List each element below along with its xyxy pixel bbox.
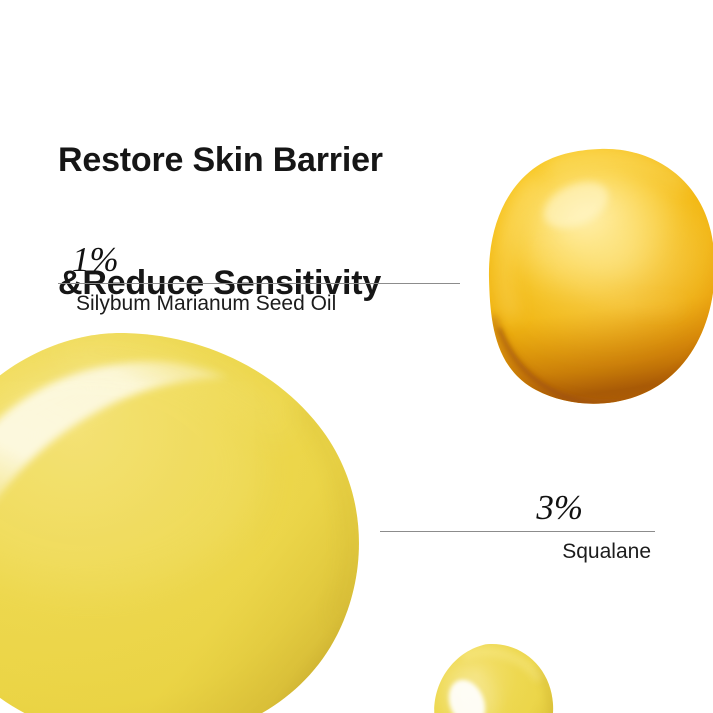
ingredient-percent: 1%: [58, 240, 460, 280]
product-infographic: Restore Skin Barrier &Reduce Sensitivity…: [0, 0, 713, 713]
ingredient-callout-squalane: 3% Squalane: [380, 488, 655, 567]
ingredient-callout-silybum: 1% Silybum Marianum Seed Oil: [58, 240, 460, 319]
text-layer: Restore Skin Barrier &Reduce Sensitivity…: [0, 0, 713, 713]
ingredient-divider: [58, 283, 460, 284]
page-title: Restore Skin Barrier &Reduce Sensitivity: [58, 58, 518, 386]
ingredient-name: Squalane: [380, 537, 655, 567]
ingredient-divider: [380, 531, 655, 532]
ingredient-name: Silybum Marianum Seed Oil: [58, 289, 460, 319]
ingredient-percent: 3%: [380, 488, 655, 528]
headline-line-1: Restore Skin Barrier: [58, 140, 518, 181]
